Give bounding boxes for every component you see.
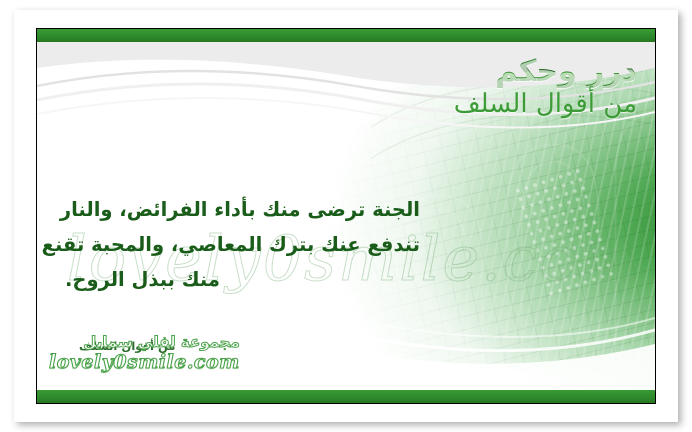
card-inner-border: درر وحكم من أقوال السلف lovely0smile.com… [36,28,656,404]
card-outer-frame: درر وحكم من أقوال السلف lovely0smile.com… [14,10,678,422]
bottom-green-bar [37,390,655,403]
top-green-bar [37,29,655,42]
quote-line-3: منك ببذل الروح. [65,262,420,297]
site-logo-arabic: مجموعة لفلي سمايل [49,335,240,350]
site-logo-latin: lovely0smile.com [49,353,240,372]
quote-line-1: الجنة ترضى منك بأداء الفرائض، والنار [65,192,420,227]
site-logo[interactable]: مجموعة لفلي سمايل lovely0smile.com [49,335,240,372]
page-subtitle: من أقوال السلف [454,90,637,120]
quote-line-2: تندفع عنك بترك المعاصي، والمحبة تقنع [65,227,420,262]
page-title: درر وحكم [454,56,637,88]
quote-text: الجنة ترضى منك بأداء الفرائض، والنار تند… [65,192,420,297]
screenshot-root: درر وحكم من أقوال السلف lovely0smile.com… [0,0,692,432]
card-canvas: درر وحكم من أقوال السلف lovely0smile.com… [37,42,655,390]
card-header: درر وحكم من أقوال السلف [454,56,637,119]
